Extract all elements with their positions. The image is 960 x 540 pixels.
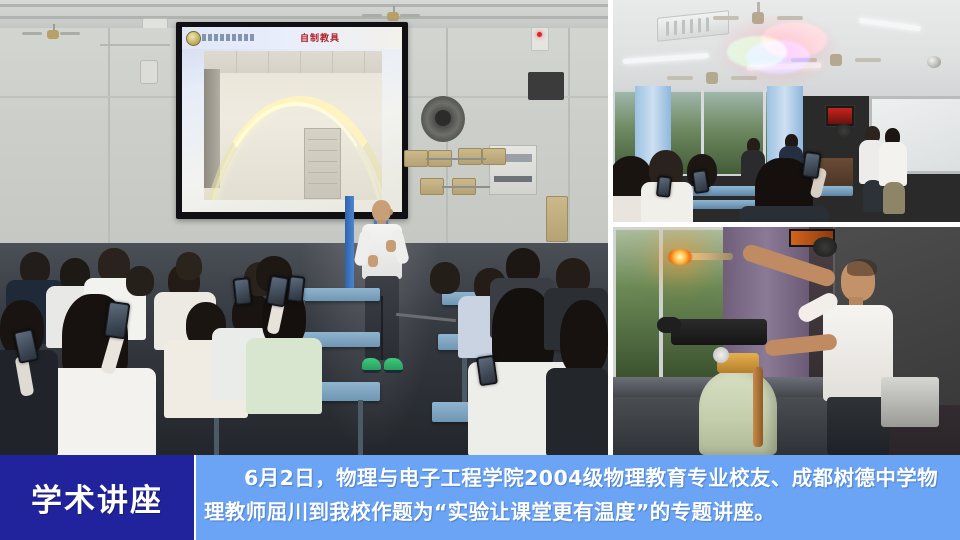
slide-header: 自制教具	[182, 27, 402, 49]
desk-leg	[358, 400, 363, 455]
slide-title: 自制教具	[300, 31, 340, 44]
fan-blade	[400, 14, 420, 17]
ceiling-beam	[0, 16, 608, 19]
caption-text: 6月2日，物理与电子工程学院2004级物理教育专业校友、成都树德中学物理教师屈川…	[204, 461, 950, 529]
flame-demo-scene	[613, 227, 960, 455]
smartphone	[801, 151, 821, 179]
school-emblem-icon	[186, 31, 201, 46]
fan-motor	[47, 30, 59, 39]
photo-bottom-right-flame-demo	[613, 227, 960, 455]
wall-speaker-small	[140, 60, 158, 84]
panel-label	[494, 176, 532, 182]
person-body	[879, 142, 907, 186]
photo-top-right-rgb-demo	[613, 0, 960, 222]
wall-seam	[108, 28, 110, 243]
photo-main-lecture-hall: 自制教具	[0, 0, 608, 455]
wire	[426, 158, 486, 160]
apparatus-tube	[753, 367, 763, 447]
pipe	[100, 44, 170, 46]
ceiling-fan	[30, 24, 76, 40]
fan-blade	[667, 76, 693, 80]
lecture-hall-scene: 自制教具	[0, 0, 608, 455]
alarm-sensor	[531, 27, 549, 51]
caption-body: 6月2日，物理与电子工程学院2004级物理教育专业校友、成都树德中学物理教师屈川…	[196, 455, 960, 540]
apparatus-coil	[713, 347, 729, 363]
demonstration-apparatus	[699, 369, 777, 455]
wall-speaker	[528, 72, 564, 100]
trouser-seam	[381, 296, 383, 360]
wire	[442, 186, 490, 188]
fan-blade	[855, 58, 881, 62]
badge: 学术讲座	[0, 455, 194, 540]
camera-icon	[927, 56, 941, 68]
projection-screen: 自制教具	[182, 27, 402, 212]
projection-screen-frame: 自制教具	[176, 22, 408, 219]
smartphone	[656, 175, 672, 197]
wall-block	[420, 178, 444, 195]
dark-apparatus	[671, 319, 767, 345]
wall-block	[458, 148, 482, 165]
badge-label: 学术讲座	[31, 475, 163, 520]
photo-collage: 自制教具	[0, 0, 960, 455]
smartphone	[476, 355, 498, 386]
window-mullion	[659, 227, 663, 377]
person-legs	[883, 182, 905, 214]
slide-photo-rainbow	[204, 51, 382, 200]
wall-fan	[835, 124, 853, 138]
caption-bar: 学术讲座 6月2日，物理与电子工程学院2004级物理教育专业校友、成都树德中学物…	[0, 455, 960, 540]
wall-block	[404, 150, 428, 167]
audience-body	[739, 206, 829, 222]
audience-head	[560, 300, 608, 376]
inset-cabinet	[304, 128, 342, 199]
presenter-trousers	[827, 397, 889, 455]
wall-seam	[568, 28, 570, 243]
audience-body	[546, 368, 608, 455]
school-name-text	[202, 34, 256, 41]
smartphone	[287, 275, 306, 303]
blue-light-spot	[746, 40, 810, 74]
fan-blade	[22, 32, 42, 35]
audience-head	[98, 248, 130, 282]
flame	[667, 249, 693, 265]
rgb-demo-scene	[613, 0, 960, 222]
fan-blade	[60, 32, 80, 35]
inset-ceiling	[204, 51, 382, 73]
audience-head	[430, 262, 460, 294]
wall-block	[546, 196, 568, 242]
presenter-shoe	[362, 358, 381, 373]
wall-block	[482, 148, 506, 165]
ceiling-beam	[0, 4, 608, 7]
lecture-poster: 自制教具	[0, 0, 960, 540]
presenter-ear	[389, 209, 393, 215]
audience-body	[246, 338, 322, 414]
fan-motor	[387, 12, 399, 21]
ceiling-fan	[370, 6, 416, 22]
presenter-hand-right	[386, 240, 396, 252]
rainbow-arc-inner	[204, 102, 382, 200]
smartphone	[691, 169, 709, 194]
presenter-hand-left	[368, 255, 378, 267]
equipment-box	[881, 377, 939, 427]
fan-blade	[362, 14, 382, 17]
presenter-shoe	[384, 358, 403, 373]
audience-head	[126, 266, 154, 296]
wall-fan	[421, 96, 465, 142]
presenter-hair	[847, 259, 877, 276]
audience-head	[176, 252, 202, 280]
apparatus-nozzle	[657, 317, 681, 333]
smartphone	[233, 277, 253, 306]
